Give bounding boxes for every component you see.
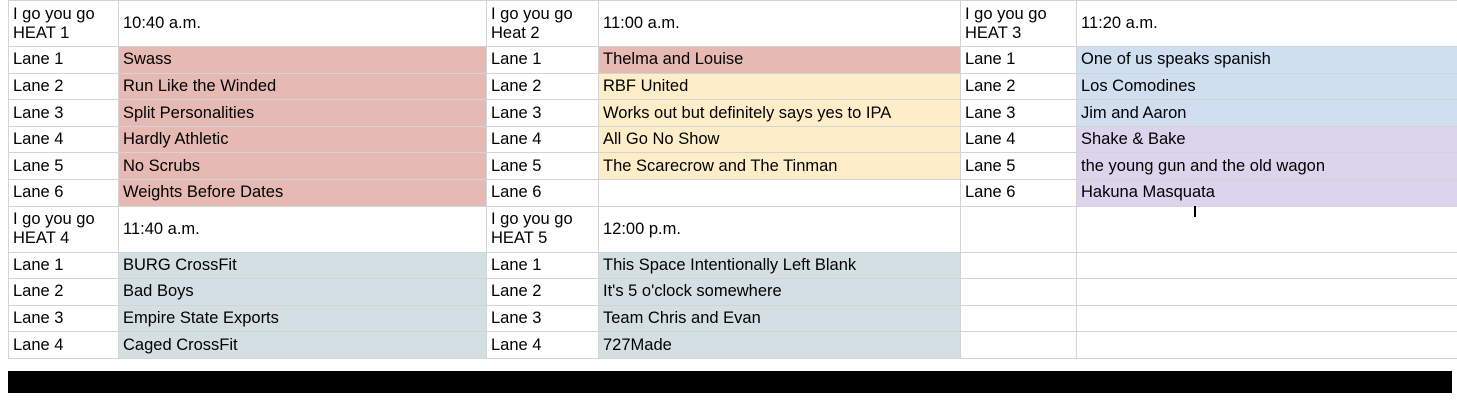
heat-time-heat-1[interactable]: 10:40 a.m. [119, 1, 487, 47]
heat-header-heat-2[interactable]: I go you goHeat 2 [487, 1, 599, 47]
lane-label[interactable]: Lane 1 [487, 47, 599, 74]
heat-header-heat-empty[interactable] [961, 206, 1077, 252]
lane-label[interactable]: Lane 6 [9, 179, 119, 206]
team-name-cell[interactable] [1077, 252, 1457, 279]
event-label: I go you go [491, 210, 573, 228]
lane-label[interactable] [961, 252, 1077, 279]
lane-label[interactable] [961, 279, 1077, 306]
lane-label[interactable]: Lane 3 [487, 100, 599, 127]
team-name-cell[interactable]: Split Personalities [119, 100, 487, 127]
team-name-cell[interactable]: No Scrubs [119, 153, 487, 180]
lane-label[interactable]: Lane 1 [487, 252, 599, 279]
team-name-cell[interactable]: Thelma and Louise [599, 47, 961, 74]
team-name-cell[interactable]: Run Like the Winded [119, 73, 487, 100]
table-row: Lane 5No ScrubsLane 5The Scarecrow and T… [9, 153, 1457, 180]
lane-label[interactable]: Lane 6 [961, 179, 1077, 206]
team-name-cell[interactable]: 727Made [599, 332, 961, 359]
heat-time-heat-2[interactable]: 11:00 a.m. [599, 1, 961, 47]
team-name-cell[interactable]: Shake & Bake [1077, 126, 1457, 153]
lane-label[interactable] [961, 332, 1077, 359]
lane-label[interactable]: Lane 2 [487, 73, 599, 100]
lane-label[interactable]: Lane 4 [487, 332, 599, 359]
table-row: Lane 6Weights Before DatesLane 6Lane 6Ha… [9, 179, 1457, 206]
lane-label[interactable]: Lane 4 [961, 126, 1077, 153]
table-row: Lane 3Split PersonalitiesLane 3Works out… [9, 100, 1457, 127]
table-row: Lane 3Empire State ExportsLane 3Team Chr… [9, 305, 1457, 332]
lane-label[interactable]: Lane 2 [961, 73, 1077, 100]
heat-time-heat-3[interactable]: 11:20 a.m. [1077, 1, 1457, 47]
team-name-cell[interactable]: One of us speaks spanish [1077, 47, 1457, 74]
team-name-cell[interactable]: Bad Boys [119, 279, 487, 306]
heat-header-row: I go you goHEAT 411:40 a.m.I go you goHE… [9, 206, 1457, 252]
team-name-cell[interactable] [599, 179, 961, 206]
text-caret [1194, 206, 1196, 217]
event-label: I go you go [965, 5, 1047, 23]
lane-label[interactable]: Lane 4 [487, 126, 599, 153]
lane-label[interactable]: Lane 2 [9, 73, 119, 100]
heat-time-heat-empty[interactable] [1077, 206, 1457, 252]
event-label: I go you go [491, 5, 573, 23]
team-name-cell[interactable]: BURG CrossFit [119, 252, 487, 279]
heat-number-label: HEAT 1 [13, 24, 69, 42]
lane-label[interactable]: Lane 5 [961, 153, 1077, 180]
lane-label[interactable]: Lane 2 [9, 279, 119, 306]
lane-label[interactable]: Lane 1 [9, 252, 119, 279]
team-name-cell[interactable]: Works out but definitely says yes to IPA [599, 100, 961, 127]
heat-header-heat-3[interactable]: I go you goHEAT 3 [961, 1, 1077, 47]
team-name-cell[interactable] [1077, 332, 1457, 359]
lane-label[interactable]: Lane 3 [9, 305, 119, 332]
heat-header-row: I go you goHEAT 110:40 a.m.I go you goHe… [9, 1, 1457, 47]
heat-time-heat-4[interactable]: 11:40 a.m. [119, 206, 487, 252]
team-name-cell[interactable] [1077, 279, 1457, 306]
team-name-cell[interactable]: the young gun and the old wagon [1077, 153, 1457, 180]
table-row: Lane 4Hardly AthleticLane 4All Go No Sho… [9, 126, 1457, 153]
table-row: Lane 4Caged CrossFitLane 4727Made [9, 332, 1457, 359]
event-label: I go you go [13, 210, 95, 228]
lane-label[interactable]: Lane 3 [961, 100, 1077, 127]
lane-label[interactable]: Lane 3 [9, 100, 119, 127]
heat-number-label: HEAT 3 [965, 24, 1021, 42]
table-row: Lane 1SwassLane 1Thelma and LouiseLane 1… [9, 47, 1457, 74]
team-name-cell[interactable] [1077, 305, 1457, 332]
team-name-cell[interactable]: It's 5 o'clock somewhere [599, 279, 961, 306]
footer-black-bar [8, 371, 1452, 393]
lane-label[interactable]: Lane 5 [487, 153, 599, 180]
heat-header-heat-1[interactable]: I go you goHEAT 1 [9, 1, 119, 47]
lane-label[interactable]: Lane 5 [9, 153, 119, 180]
heat-time-heat-5[interactable]: 12:00 p.m. [599, 206, 961, 252]
team-name-cell[interactable]: Caged CrossFit [119, 332, 487, 359]
heat-header-heat-4[interactable]: I go you goHEAT 4 [9, 206, 119, 252]
team-name-cell[interactable]: Team Chris and Evan [599, 305, 961, 332]
heat-number-label: HEAT 5 [491, 229, 547, 247]
team-name-cell[interactable]: Empire State Exports [119, 305, 487, 332]
heat-number-label: HEAT 4 [13, 229, 69, 247]
team-name-cell[interactable]: RBF United [599, 73, 961, 100]
team-name-cell[interactable]: Weights Before Dates [119, 179, 487, 206]
team-name-cell[interactable]: Swass [119, 47, 487, 74]
spreadsheet-canvas: I go you goHEAT 110:40 a.m.I go you goHe… [0, 0, 1457, 400]
team-name-cell[interactable]: This Space Intentionally Left Blank [599, 252, 961, 279]
table-row: Lane 1BURG CrossFitLane 1This Space Inte… [9, 252, 1457, 279]
lane-label[interactable]: Lane 3 [487, 305, 599, 332]
table-row: Lane 2Run Like the WindedLane 2RBF Unite… [9, 73, 1457, 100]
team-name-cell[interactable]: Hardly Athletic [119, 126, 487, 153]
lane-label[interactable]: Lane 1 [961, 47, 1077, 74]
lane-label[interactable]: Lane 1 [9, 47, 119, 74]
heat-header-heat-5[interactable]: I go you goHEAT 5 [487, 206, 599, 252]
heat-number-label: Heat 2 [491, 24, 540, 42]
lane-label[interactable] [961, 305, 1077, 332]
lane-label[interactable]: Lane 2 [487, 279, 599, 306]
lane-label[interactable]: Lane 4 [9, 332, 119, 359]
team-name-cell[interactable]: Jim and Aaron [1077, 100, 1457, 127]
team-name-cell[interactable]: The Scarecrow and The Tinman [599, 153, 961, 180]
table-row: Lane 2Bad BoysLane 2It's 5 o'clock somew… [9, 279, 1457, 306]
heat-schedule-table: I go you goHEAT 110:40 a.m.I go you goHe… [8, 0, 1457, 359]
team-name-cell[interactable]: Hakuna Masquata [1077, 179, 1457, 206]
team-name-cell[interactable]: All Go No Show [599, 126, 961, 153]
lane-label[interactable]: Lane 6 [487, 179, 599, 206]
team-name-cell[interactable]: Los Comodines [1077, 73, 1457, 100]
lane-label[interactable]: Lane 4 [9, 126, 119, 153]
event-label: I go you go [13, 5, 95, 23]
